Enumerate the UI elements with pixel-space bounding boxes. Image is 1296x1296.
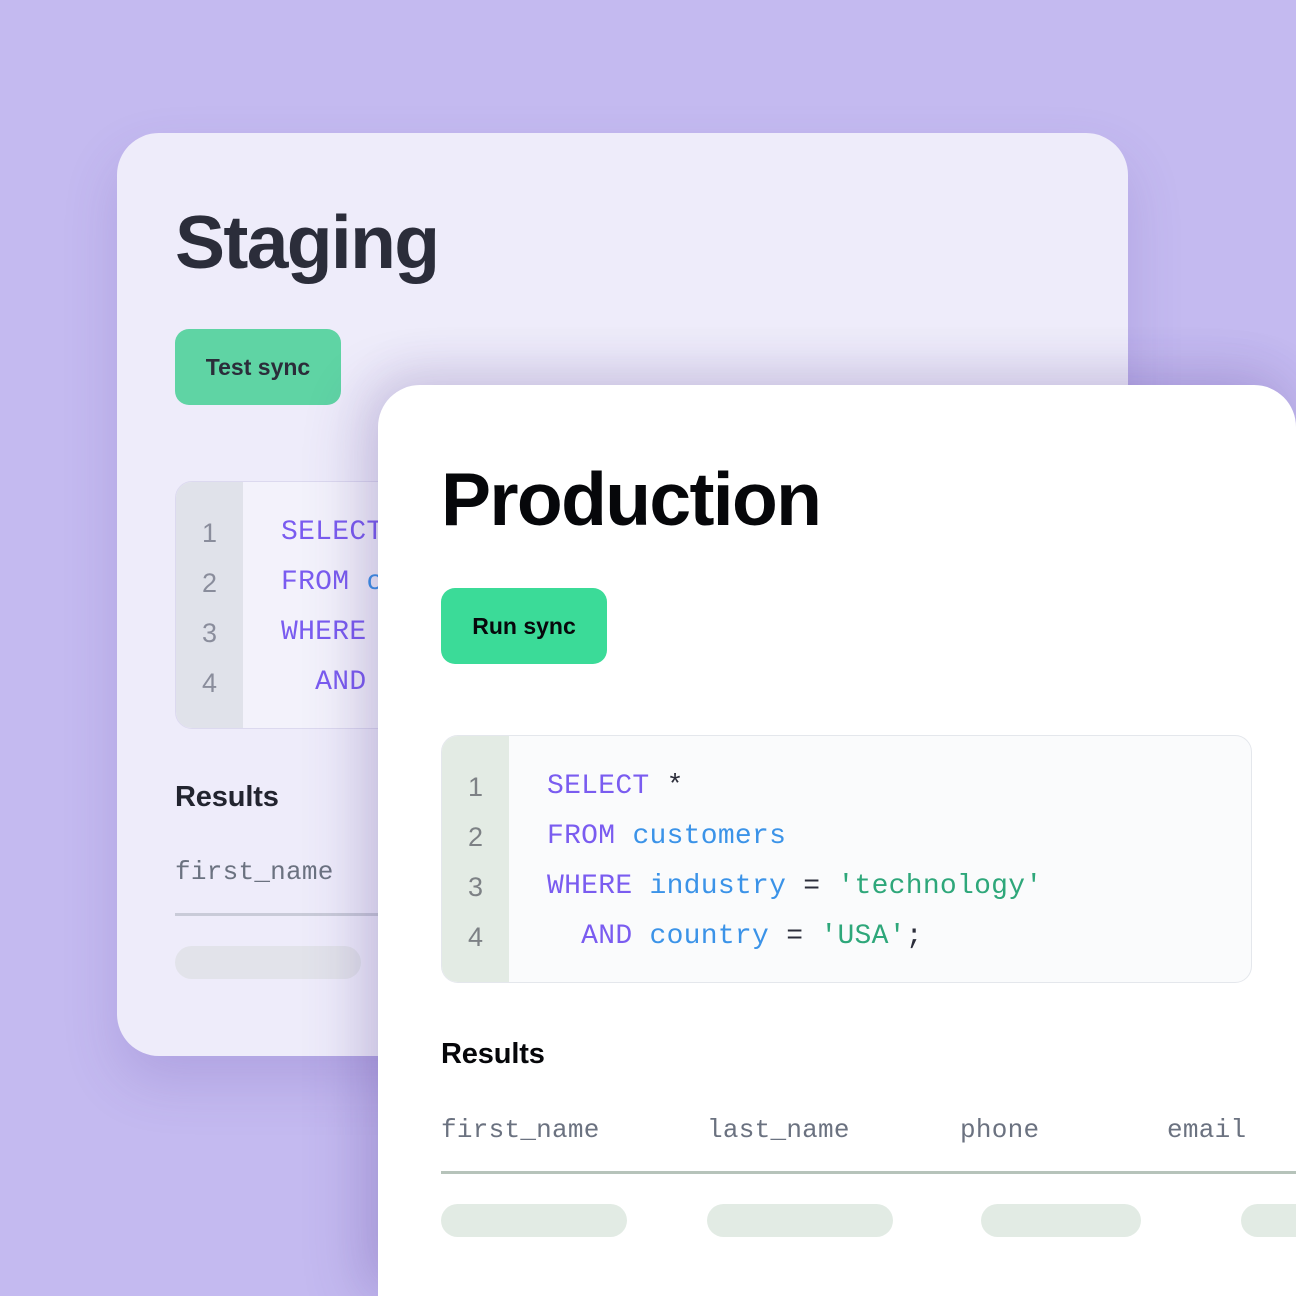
sql-code-line: AND country = 'USA'; — [547, 912, 1251, 962]
staging-line-number-gutter: 1 2 3 4 — [176, 482, 243, 728]
sql-token-kw: SELECT — [281, 517, 384, 548]
results-skeleton-cell — [441, 1204, 627, 1237]
sql-token-op — [349, 567, 366, 598]
results-column-header[interactable]: email — [1167, 1115, 1296, 1145]
sql-token-op: = — [786, 871, 837, 902]
sql-token-str: 'technology' — [837, 871, 1042, 902]
sql-token-kw: WHERE — [547, 871, 632, 902]
sql-token-op: * — [667, 771, 684, 802]
production-results-heading: Results — [441, 1038, 545, 1071]
line-number: 2 — [176, 558, 243, 608]
results-skeleton-cell — [981, 1204, 1141, 1237]
production-results-divider — [441, 1171, 1296, 1174]
sql-token-op — [615, 821, 632, 852]
sql-token-kw: SELECT — [547, 771, 650, 802]
production-results-table: first_namelast_namephoneemail — [441, 1115, 1296, 1237]
results-column-header[interactable]: phone — [960, 1115, 1167, 1145]
results-skeleton-cell — [1241, 1204, 1296, 1237]
production-sql-editor[interactable]: 1 2 3 4 SELECT *FROM customersWHERE indu… — [441, 735, 1252, 983]
sql-token-kw: WHERE — [281, 617, 366, 648]
results-skeleton-cell — [707, 1204, 893, 1237]
production-card: Production Run sync 1 2 3 4 SELECT *FROM… — [378, 385, 1296, 1296]
sql-token-op — [632, 921, 649, 952]
line-number: 3 — [176, 608, 243, 658]
results-skeleton-cell — [175, 946, 361, 979]
sql-code-line: WHERE industry = 'technology' — [547, 862, 1251, 912]
production-sql-code-area[interactable]: SELECT *FROM customersWHERE industry = '… — [509, 736, 1251, 982]
sql-token-idf: customers — [632, 821, 786, 852]
sql-token-op: = — [769, 921, 820, 952]
sql-token-idf: country — [650, 921, 770, 952]
sql-token-op — [650, 771, 667, 802]
run-sync-button[interactable]: Run sync — [441, 588, 607, 664]
production-results-header-row: first_namelast_namephoneemail — [441, 1115, 1296, 1145]
line-number: 1 — [442, 762, 509, 812]
staging-results-heading: Results — [175, 781, 279, 814]
line-number: 3 — [442, 862, 509, 912]
sql-token-kw: AND — [547, 921, 632, 952]
sql-code-line: FROM customers — [547, 812, 1251, 862]
results-column-header[interactable]: first_name — [441, 1115, 707, 1145]
line-number: 4 — [442, 912, 509, 962]
staging-page-title: Staging — [175, 205, 438, 280]
sql-token-op — [632, 871, 649, 902]
sql-token-str: 'USA' — [820, 921, 905, 952]
line-number: 2 — [442, 812, 509, 862]
sql-token-idf: industry — [650, 871, 787, 902]
test-sync-button[interactable]: Test sync — [175, 329, 341, 405]
results-column-header[interactable]: last_name — [707, 1115, 960, 1145]
sql-token-kw: FROM — [281, 567, 349, 598]
production-results-loading-row — [441, 1204, 1296, 1237]
production-line-number-gutter: 1 2 3 4 — [442, 736, 509, 982]
sql-token-op: ; — [906, 921, 923, 952]
production-page-title: Production — [441, 462, 820, 537]
line-number: 4 — [176, 658, 243, 708]
sql-token-kw: AND — [281, 667, 366, 698]
sql-code-line: SELECT * — [547, 762, 1251, 812]
line-number: 1 — [176, 508, 243, 558]
sql-token-kw: FROM — [547, 821, 615, 852]
